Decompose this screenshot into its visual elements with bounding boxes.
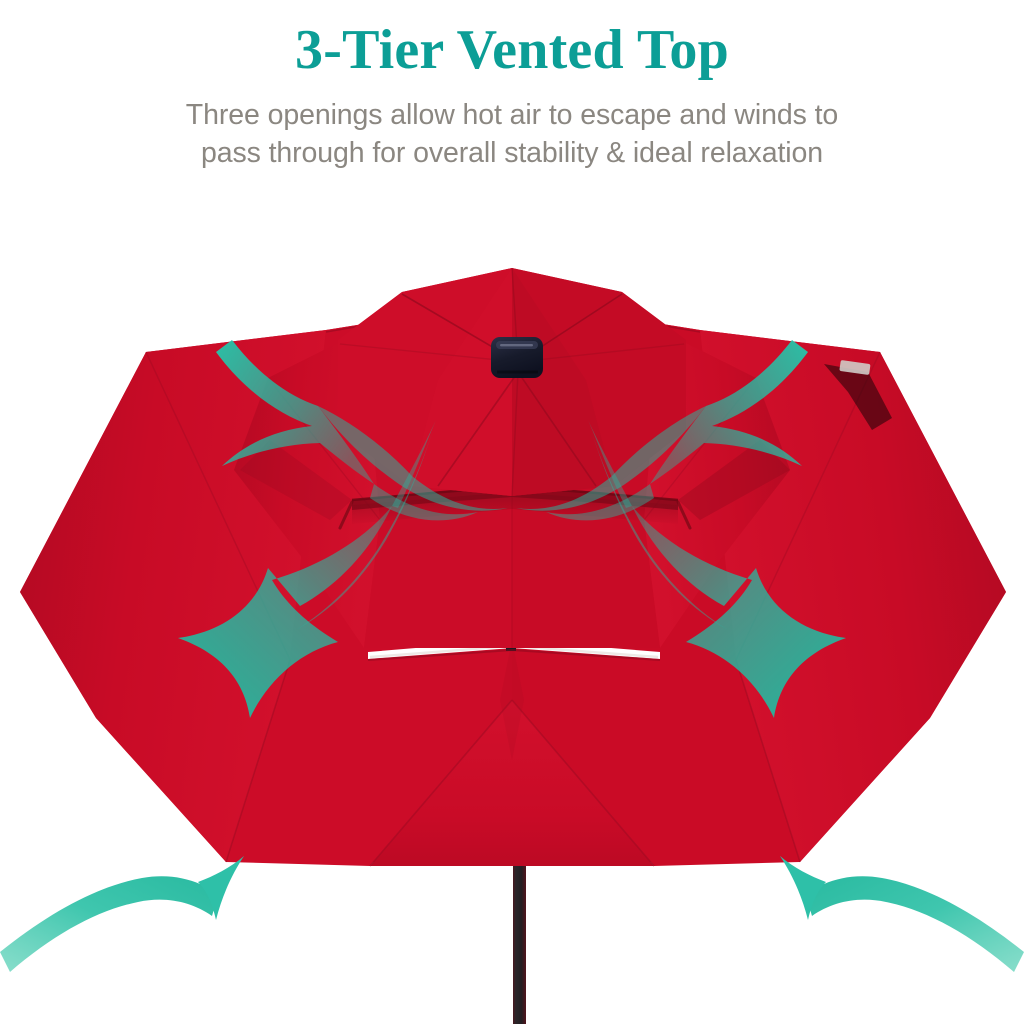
umbrella-pole [513,860,526,1024]
airflow-arrow-bottom-left [0,856,244,972]
product-feature-infographic: 3-Tier Vented Top Three openings allow h… [0,0,1024,1024]
product-illustration [0,0,1024,1024]
finial-cap [491,337,543,378]
airflow-arrow-bottom-right [780,856,1024,972]
umbrella-svg [0,0,1024,1024]
